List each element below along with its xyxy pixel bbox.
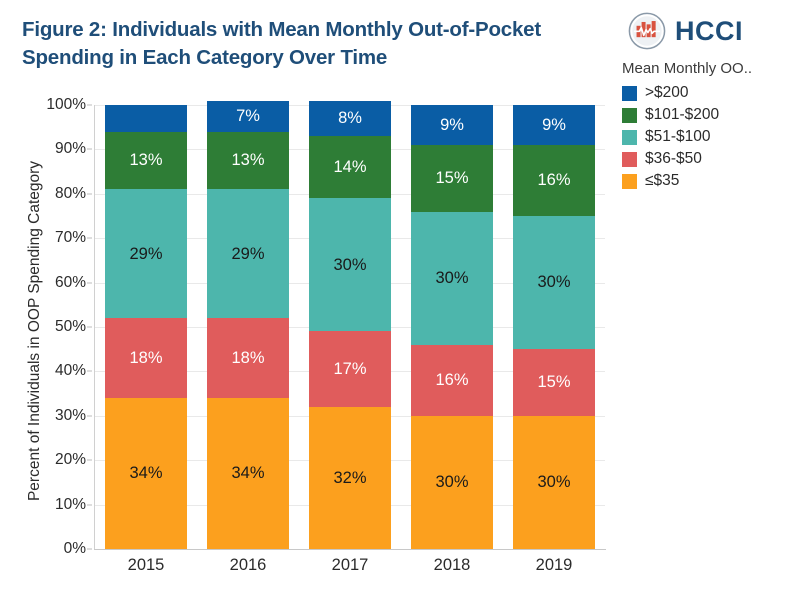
bar-segment[interactable]: 29% [105, 189, 187, 318]
y-axis-tick-mark [87, 549, 92, 550]
hcci-pulse-logo-icon [628, 12, 666, 50]
bar-group[interactable]: 30%16%30%15%9% [411, 105, 493, 549]
x-axis-labels: 20152016201720182019 [95, 556, 605, 584]
legend-item-label: ≤$35 [645, 172, 679, 190]
bar-segment[interactable]: 15% [411, 145, 493, 212]
bar-value-label: 29% [231, 246, 264, 263]
legend-swatch-icon [622, 152, 637, 167]
bar-group[interactable]: 32%17%30%14%8% [309, 105, 391, 549]
bar-value-label: 13% [129, 152, 162, 169]
y-axis-tick-mark [87, 105, 92, 106]
bar-segment[interactable]: 30% [309, 198, 391, 331]
bar-segment[interactable]: 18% [207, 318, 289, 398]
bar-value-label: 9% [440, 117, 464, 134]
bar-value-label: 15% [435, 170, 468, 187]
legend-title: Mean Monthly OO.. [622, 60, 797, 77]
y-axis-tick-mark [87, 371, 92, 372]
bar-segment[interactable]: 7% [207, 101, 289, 132]
bar-value-label: 17% [333, 361, 366, 378]
bar-segment[interactable]: 30% [411, 212, 493, 345]
bar-segment[interactable] [105, 105, 187, 132]
bar-stack: 34%18%29%13% [105, 105, 187, 549]
bar-group[interactable]: 34%18%29%13% [105, 105, 187, 549]
bar-segment[interactable]: 13% [105, 132, 187, 190]
legend-item[interactable]: >$200 [622, 82, 797, 104]
y-axis-tick-label: 80% [55, 185, 86, 203]
bar-value-label: 30% [537, 474, 570, 491]
bar-segment[interactable]: 16% [411, 345, 493, 416]
y-axis-title: Percent of Individuals in OOP Spending C… [26, 116, 44, 546]
y-axis-tick-label: 60% [55, 274, 86, 292]
bar-value-label: 18% [231, 350, 264, 367]
chart-legend: Mean Monthly OO.. >$200$101-$200$51-$100… [622, 60, 797, 192]
x-axis-tick-label: 2015 [95, 556, 197, 575]
bar-segment[interactable]: 13% [207, 132, 289, 190]
y-axis-tick-mark [87, 193, 92, 194]
legend-item-label: $101-$200 [645, 106, 719, 124]
legend-items: >$200$101-$200$51-$100$36-$50≤$35 [622, 82, 797, 192]
y-axis-tick-label: 70% [55, 229, 86, 247]
bar-value-label: 32% [333, 470, 366, 487]
y-axis-tick-label: 10% [55, 496, 86, 514]
y-axis-tick-label: 20% [55, 451, 86, 469]
bar-value-label: 13% [231, 152, 264, 169]
bar-value-label: 29% [129, 246, 162, 263]
y-axis-tick-label: 90% [55, 140, 86, 158]
bar-segment[interactable]: 15% [513, 349, 595, 416]
bar-segment[interactable]: 8% [309, 101, 391, 137]
bar-segment[interactable]: 29% [207, 189, 289, 318]
bar-value-label: 34% [129, 465, 162, 482]
brand-name: HCCI [675, 18, 743, 45]
brand-logo: HCCI [628, 12, 743, 50]
bar-segment[interactable]: 18% [105, 318, 187, 398]
legend-item-label: $36-$50 [645, 150, 702, 168]
bar-segment[interactable]: 30% [513, 216, 595, 349]
x-axis-tick-label: 2017 [299, 556, 401, 575]
x-axis-line [94, 549, 606, 550]
y-axis-tick-label: 100% [46, 96, 86, 114]
bar-segment[interactable]: 16% [513, 145, 595, 216]
legend-swatch-icon [622, 108, 637, 123]
y-axis-tick-mark [87, 238, 92, 239]
bar-segment[interactable]: 30% [411, 416, 493, 549]
bar-segment[interactable]: 34% [105, 398, 187, 549]
bar-segment[interactable]: 9% [513, 105, 595, 145]
legend-item[interactable]: $51-$100 [622, 126, 797, 148]
legend-swatch-icon [622, 86, 637, 101]
bar-stack: 30%15%30%16%9% [513, 105, 595, 549]
x-axis-tick-label: 2019 [503, 556, 605, 575]
plot-area: 34%18%29%13%34%18%29%13%7%32%17%30%14%8%… [95, 105, 605, 549]
legend-item[interactable]: ≤$35 [622, 170, 797, 192]
y-axis-tick-mark [87, 327, 92, 328]
bar-segment[interactable]: 34% [207, 398, 289, 549]
y-axis-tick-label: 30% [55, 407, 86, 425]
bar-segment[interactable]: 14% [309, 136, 391, 198]
y-axis-tick-label: 40% [55, 362, 86, 380]
y-axis-tick-label: 0% [64, 540, 86, 558]
bar-value-label: 30% [537, 274, 570, 291]
bar-stack: 30%16%30%15%9% [411, 105, 493, 549]
x-axis-tick-label: 2018 [401, 556, 503, 575]
chart-plot: Percent of Individuals in OOP Spending C… [0, 0, 620, 600]
bar-segment[interactable]: 30% [513, 416, 595, 549]
bar-value-label: 34% [231, 465, 264, 482]
legend-item[interactable]: $36-$50 [622, 148, 797, 170]
y-axis-tick-mark [87, 415, 92, 416]
bar-value-label: 16% [435, 372, 468, 389]
bar-value-label: 18% [129, 350, 162, 367]
legend-swatch-icon [622, 174, 637, 189]
legend-swatch-icon [622, 130, 637, 145]
bar-value-label: 30% [435, 270, 468, 287]
bar-group[interactable]: 34%18%29%13%7% [207, 105, 289, 549]
legend-item-label: >$200 [645, 84, 689, 102]
bar-value-label: 30% [435, 474, 468, 491]
bar-value-label: 14% [333, 159, 366, 176]
bar-value-label: 8% [338, 110, 362, 127]
y-axis-tick-mark [87, 282, 92, 283]
y-axis-ticks: 0%10%20%30%40%50%60%70%80%90%100% [44, 105, 92, 549]
bar-segment[interactable]: 17% [309, 331, 391, 406]
bar-value-label: 7% [236, 108, 260, 125]
y-axis-tick-mark [87, 149, 92, 150]
y-axis-tick-label: 50% [55, 318, 86, 336]
bar-value-label: 9% [542, 117, 566, 134]
y-axis-tick-mark [87, 460, 92, 461]
bar-value-label: 16% [537, 172, 570, 189]
bar-stack: 34%18%29%13%7% [207, 105, 289, 549]
bar-stack: 32%17%30%14%8% [309, 105, 391, 549]
bar-segment[interactable]: 9% [411, 105, 493, 145]
bar-value-label: 15% [537, 374, 570, 391]
bar-segment[interactable]: 32% [309, 407, 391, 549]
x-axis-tick-label: 2016 [197, 556, 299, 575]
legend-item-label: $51-$100 [645, 128, 711, 146]
legend-item[interactable]: $101-$200 [622, 104, 797, 126]
bar-group[interactable]: 30%15%30%16%9% [513, 105, 595, 549]
y-axis-tick-mark [87, 504, 92, 505]
bar-value-label: 30% [333, 257, 366, 274]
